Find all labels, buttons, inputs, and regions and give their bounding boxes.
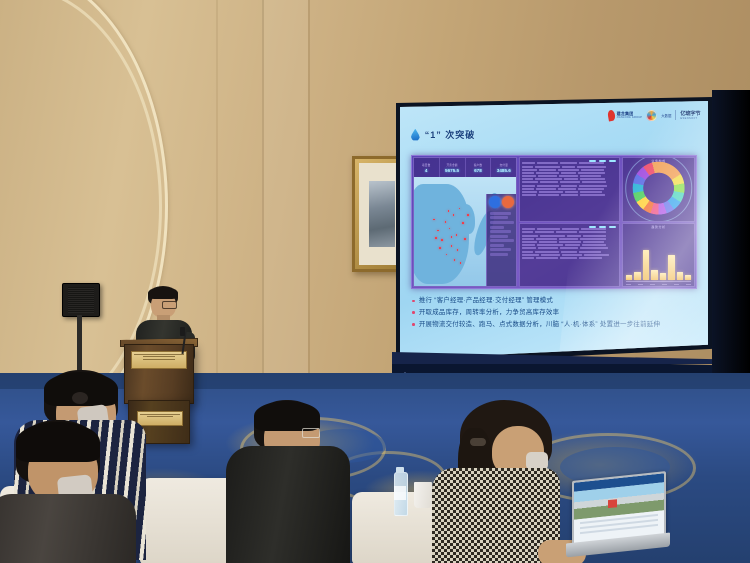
plaque-text-line xyxy=(143,356,175,357)
earpiece xyxy=(72,392,88,404)
attendee-hair-front xyxy=(254,401,320,431)
bullet-text: 开展物流交付较造、跑马、点式数据分析，川脑 “人·机·体系” 处置进一步往前延伸 xyxy=(419,321,660,328)
table-row xyxy=(522,178,618,180)
map-marker xyxy=(435,237,437,239)
conference-room-photo: 建龙集团 JIANLONG GROUP 大数据 亿琉字节 ESENSOFT “1… xyxy=(0,0,750,563)
bar-chart-axis xyxy=(626,281,692,282)
kpi-value: 5675.5 xyxy=(445,168,459,173)
map-side-list xyxy=(486,194,517,287)
table-row xyxy=(522,169,618,171)
wall-seam xyxy=(216,0,218,430)
dashboard-column-right: 业务构成 趋势分析 xyxy=(622,157,695,287)
attendee-torso xyxy=(226,446,350,563)
attendee-center xyxy=(232,400,362,563)
dashboard-column-left: 项目数 4 开票金额 5675.5 客户数 678 xyxy=(413,157,518,287)
bar-chart-title: 趋势分析 xyxy=(623,225,694,229)
table-body xyxy=(520,224,620,286)
table-row xyxy=(522,166,618,168)
presenter-hair-front xyxy=(148,287,178,299)
glasses xyxy=(302,428,320,438)
table-row xyxy=(522,194,618,196)
brand-right-sub: ESENSOFT xyxy=(680,117,700,120)
bullet-dot-icon xyxy=(412,311,415,314)
bar-chart-axis-labels xyxy=(626,284,692,286)
wall-seam xyxy=(308,0,310,430)
table-row xyxy=(522,172,618,174)
table-header xyxy=(589,160,616,162)
map-marker xyxy=(445,221,447,223)
plaque-text-line xyxy=(143,359,175,360)
bullet-dot-icon xyxy=(412,323,415,326)
status-circle-orange xyxy=(502,196,514,208)
slide-logos: 建龙集团 JIANLONG GROUP 大数据 亿琉字节 ESENSOFT xyxy=(608,110,701,121)
table-row xyxy=(522,188,618,190)
table-row xyxy=(522,235,618,237)
bar xyxy=(677,272,683,280)
map-panel: 项目数 4 开票金额 5675.5 客户数 678 xyxy=(413,157,518,287)
bullet-text: 开取成品库存，周转率分析，力争贸高库存效率 xyxy=(419,309,560,316)
brand-logo-right: 亿琉字节 ESENSOFT xyxy=(680,110,700,120)
artwork-image xyxy=(369,181,395,247)
bar xyxy=(660,273,666,280)
table-row xyxy=(522,185,618,187)
list-item xyxy=(490,212,512,215)
kpi-item: 交付量 3485.6 xyxy=(491,158,516,177)
bottle-cap xyxy=(396,467,404,473)
bar-chart xyxy=(626,241,692,280)
table-row xyxy=(522,191,618,193)
bullet-item: 开展物流交付较造、跑马、点式数据分析，川脑 “人·机·体系” 处置进一步往前延伸 xyxy=(412,321,692,328)
table-row xyxy=(522,238,618,240)
badge-label: 大数据 xyxy=(661,113,671,118)
attendee-torso xyxy=(0,494,136,563)
data-badge-icon xyxy=(646,110,657,121)
list-item xyxy=(490,235,508,238)
china-map xyxy=(414,177,517,286)
list-item xyxy=(490,239,514,242)
bottle-label xyxy=(394,486,406,500)
flame-icon xyxy=(607,109,616,121)
list-item xyxy=(490,248,512,251)
bullet-item: 推行 “客户经理·产品经理·交付经理” 管理模式 xyxy=(412,297,692,304)
attendee-front-left xyxy=(0,420,150,563)
table-row xyxy=(522,251,618,253)
brand-left-sub: JIANLONG GROUP xyxy=(617,116,643,119)
map-marker xyxy=(464,238,466,240)
list-item xyxy=(490,221,514,224)
list-item xyxy=(490,216,508,219)
map-marker xyxy=(467,214,469,216)
logo-divider xyxy=(675,110,676,120)
water-drop-icon xyxy=(411,129,420,141)
wall-seam xyxy=(262,0,264,430)
hair-tie xyxy=(470,438,486,446)
bullet-dot-icon xyxy=(412,300,415,303)
bar xyxy=(626,275,632,280)
slide-title: “1” 次突破 xyxy=(425,128,476,141)
list-item xyxy=(490,253,508,256)
attendee-hair-front xyxy=(16,422,100,462)
table-row xyxy=(522,181,618,183)
projection-screen: 建龙集团 JIANLONG GROUP 大数据 亿琉字节 ESENSOFT “1… xyxy=(400,101,708,359)
kpi-label: 开票金额 xyxy=(446,163,457,167)
kpi-value: 678 xyxy=(474,168,482,173)
table-row xyxy=(522,254,618,256)
slide-bullets: 推行 “客户经理·产品经理·交付经理” 管理模式 开取成品库存，周转率分析，力争… xyxy=(412,297,692,333)
table-row xyxy=(522,241,618,243)
slide-title-block: “1” 次突破 xyxy=(411,128,476,141)
list-item xyxy=(490,244,504,247)
peninsula-shape xyxy=(459,204,475,235)
map-marker xyxy=(448,210,450,212)
bullet-item: 开取成品库存，周转率分析，力争贸高库存效率 xyxy=(412,309,692,316)
glasses xyxy=(162,301,177,309)
table-row xyxy=(522,244,618,246)
table-row xyxy=(522,228,618,230)
table-row xyxy=(522,175,618,177)
paper-cup xyxy=(414,482,432,508)
kpi-value: 3485.6 xyxy=(497,168,511,173)
podium-plaque-upper xyxy=(131,351,187,369)
donut-chart xyxy=(632,162,685,215)
table-header xyxy=(589,226,616,228)
bar xyxy=(643,250,649,280)
bullet-text: 推行 “客户经理·产品经理·交付经理” 管理模式 xyxy=(419,297,553,304)
microphone xyxy=(180,327,185,336)
kpi-row: 项目数 4 开票金额 5675.5 客户数 678 xyxy=(414,158,517,177)
data-table-bottom xyxy=(519,223,621,287)
dashboard-column-center xyxy=(519,157,621,287)
table-row xyxy=(522,257,618,259)
data-table-top xyxy=(519,157,621,221)
kpi-item: 开票金额 5675.5 xyxy=(440,158,466,177)
kpi-label: 客户数 xyxy=(474,163,482,167)
list-item xyxy=(490,230,512,233)
table-row xyxy=(522,231,618,233)
map-marker xyxy=(462,222,464,224)
presentation-slide: 建龙集团 JIANLONG GROUP 大数据 亿琉字节 ESENSOFT “1… xyxy=(400,101,708,359)
bar xyxy=(634,272,640,281)
list-item xyxy=(490,226,504,229)
donut-chart-panel: 业务构成 xyxy=(622,157,695,221)
table-row xyxy=(522,162,618,164)
table-row xyxy=(522,247,618,249)
dashboard-screenshot: 项目数 4 开票金额 5675.5 客户数 678 xyxy=(411,155,697,289)
kpi-item: 项目数 4 xyxy=(414,158,440,177)
status-circle-blue xyxy=(489,196,501,208)
bar xyxy=(668,255,674,280)
plaque-text-line xyxy=(134,354,184,355)
map-marker xyxy=(451,245,453,247)
bar-chart-panel: 趋势分析 xyxy=(622,223,695,287)
map-marker xyxy=(439,247,441,249)
kpi-value: 4 xyxy=(425,168,428,173)
wall-speaker xyxy=(62,283,100,317)
kpi-item: 客户数 678 xyxy=(466,158,492,177)
bar xyxy=(685,275,691,280)
brand-logo-left: 建龙集团 JIANLONG GROUP xyxy=(608,110,643,121)
kpi-label: 交付量 xyxy=(500,163,508,167)
kpi-label: 项目数 xyxy=(422,163,430,167)
bar xyxy=(651,270,657,280)
mainland-shape xyxy=(414,184,469,284)
table-body xyxy=(520,158,620,220)
wall-panel xyxy=(262,0,308,430)
